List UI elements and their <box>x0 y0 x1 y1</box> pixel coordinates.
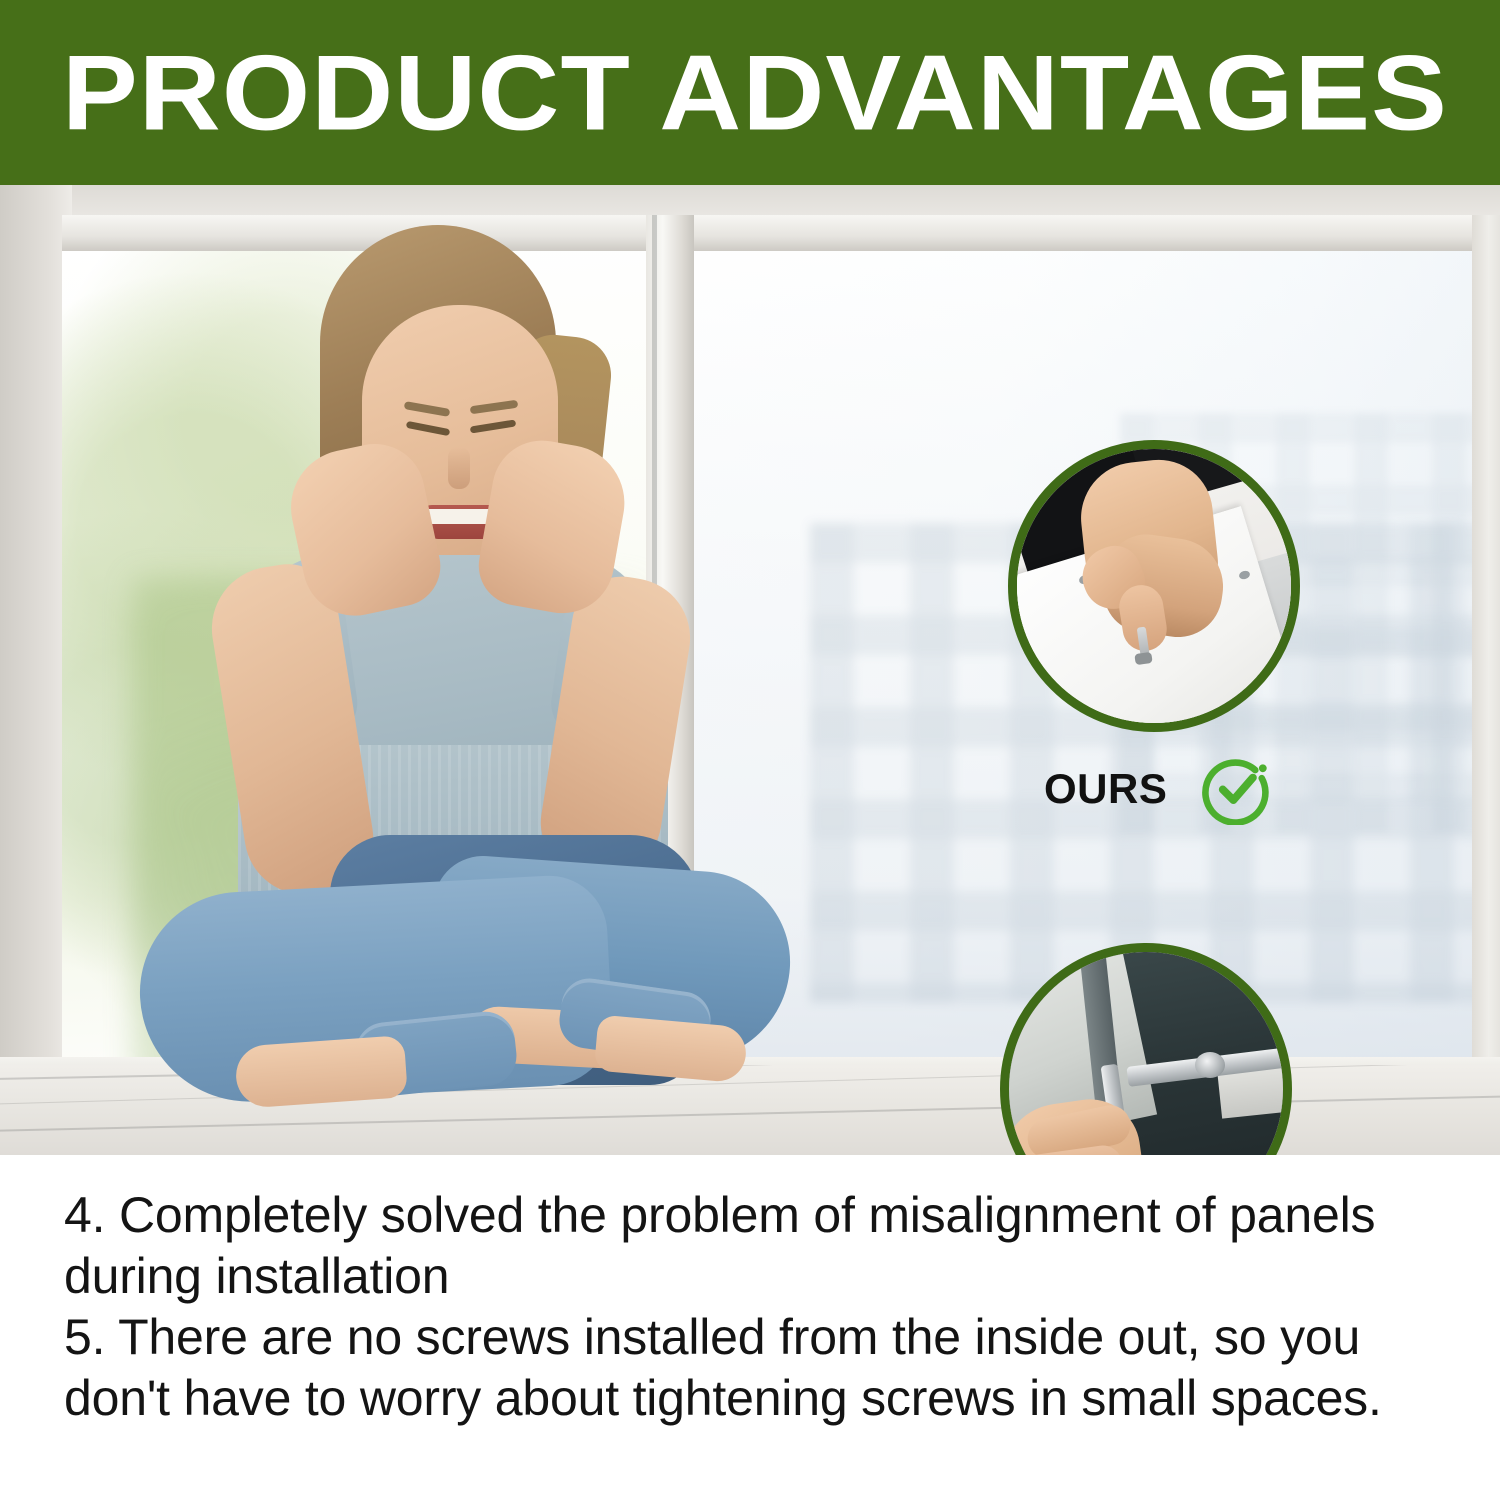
comparison-row-ours: OURS <box>1044 753 1273 825</box>
inset-photo-ours <box>1008 440 1300 732</box>
header-banner: PRODUCT ADVANTAGES <box>0 0 1500 185</box>
page-title: PRODUCT ADVANTAGES <box>62 39 1448 146</box>
lifestyle-photo: OURS OTHERS <box>0 185 1500 1155</box>
inset-others-scene <box>1009 952 1283 1155</box>
screw-bolt <box>1195 1052 1225 1078</box>
inset-photo-others <box>1000 943 1292 1155</box>
ours-label: OURS <box>1044 768 1167 810</box>
caption-line-4: 4. Completely solved the problem of misa… <box>64 1185 1436 1307</box>
nose <box>448 447 470 489</box>
caption-block: 4. Completely solved the problem of misa… <box>0 1155 1500 1489</box>
product-advantages-infographic: PRODUCT ADVANTAGES <box>0 0 1500 1489</box>
check-circle-icon <box>1201 753 1273 825</box>
inset-ours-scene <box>1017 449 1291 723</box>
caption-line-5: 5. There are no screws installed from th… <box>64 1307 1436 1429</box>
foot-front <box>234 1035 408 1109</box>
